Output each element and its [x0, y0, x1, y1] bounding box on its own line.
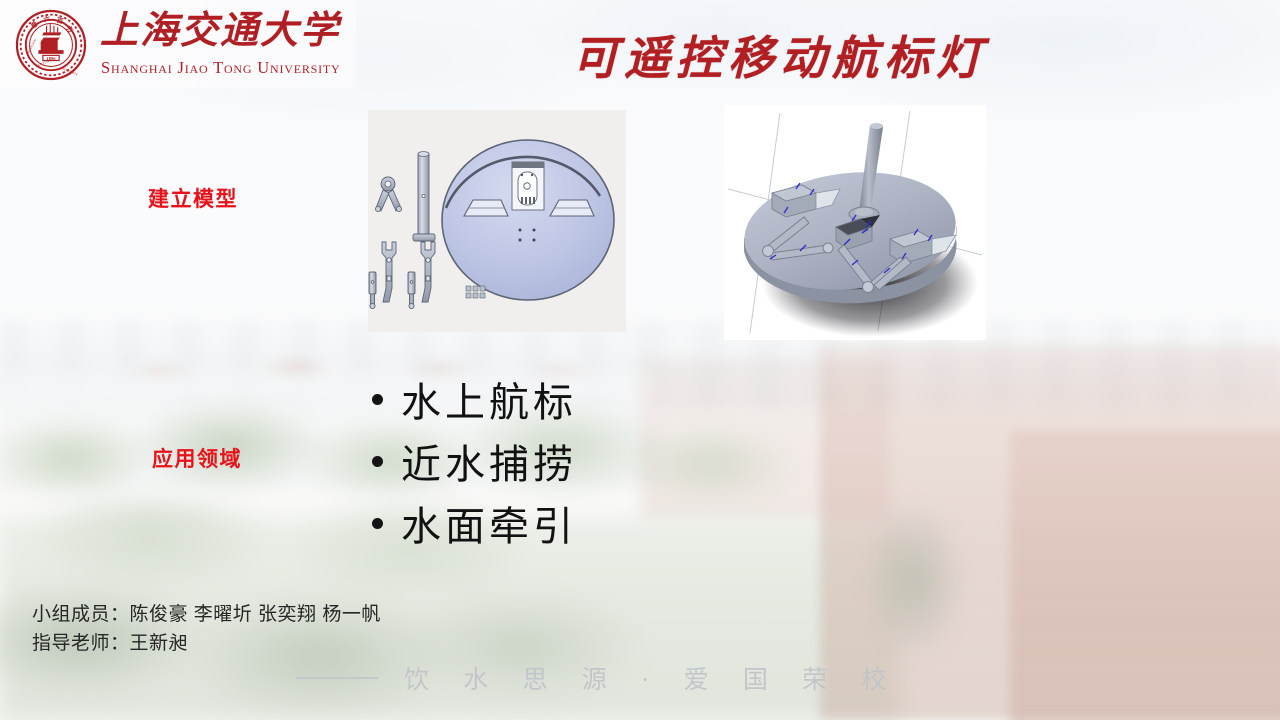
- list-item: 水面牵引: [372, 492, 577, 554]
- credits-block: 小组成员：陈俊豪 李曜圻 张奕翔 杨一帆 指导老师：王新昶: [32, 600, 381, 658]
- university-name-cn: 上海交通大学: [100, 10, 340, 52]
- cad-exploded-parts-drawing: [368, 110, 626, 332]
- motto-text: 饮 水 思 源 · 爱 国 荣 校: [404, 660, 900, 696]
- bullet-dot-icon: [372, 456, 383, 467]
- application-bullet-list: 水上航标 近水捕捞 水面牵引: [372, 368, 577, 554]
- section-label-build-model: 建立模型: [148, 183, 238, 213]
- bullet-label: 水面牵引: [401, 494, 577, 552]
- cad-exploded-parts-figure: [368, 110, 626, 332]
- bullet-label: 水上航标: [401, 370, 577, 428]
- sjtu-emblem-icon: 1896 卷 六 百 方 SHANGHAI JIAO TONG UNIVERSI…: [14, 8, 88, 82]
- university-name-en: Shanghai Jiao Tong University: [101, 58, 341, 78]
- university-motto-watermark: 饮 水 思 源 · 爱 国 荣 校: [296, 660, 900, 696]
- team-members-line: 小组成员：陈俊豪 李曜圻 张奕翔 杨一帆: [32, 600, 381, 629]
- svg-text:百: 百: [56, 16, 65, 25]
- cad-assembly-3d-drawing: [724, 105, 986, 340]
- motto-rule-divider: [296, 677, 378, 679]
- bullet-label: 近水捕捞: [401, 432, 577, 490]
- list-item: 水上航标: [372, 368, 577, 430]
- list-item: 近水捕捞: [372, 430, 577, 492]
- slide-title: 可遥控移动航标灯: [420, 22, 1140, 88]
- cad-assembly-3d-figure: [724, 105, 986, 340]
- bullet-dot-icon: [372, 394, 383, 405]
- bullet-dot-icon: [372, 518, 383, 529]
- presentation-slide: 1896 卷 六 百 方 SHANGHAI JIAO TONG UNIVERSI…: [0, 0, 1280, 720]
- section-label-application-fields: 应用领域: [152, 443, 242, 473]
- university-logo-block: 1896 卷 六 百 方 SHANGHAI JIAO TONG UNIVERSI…: [0, 0, 356, 88]
- advisor-line: 指导老师：王新昶: [32, 629, 381, 658]
